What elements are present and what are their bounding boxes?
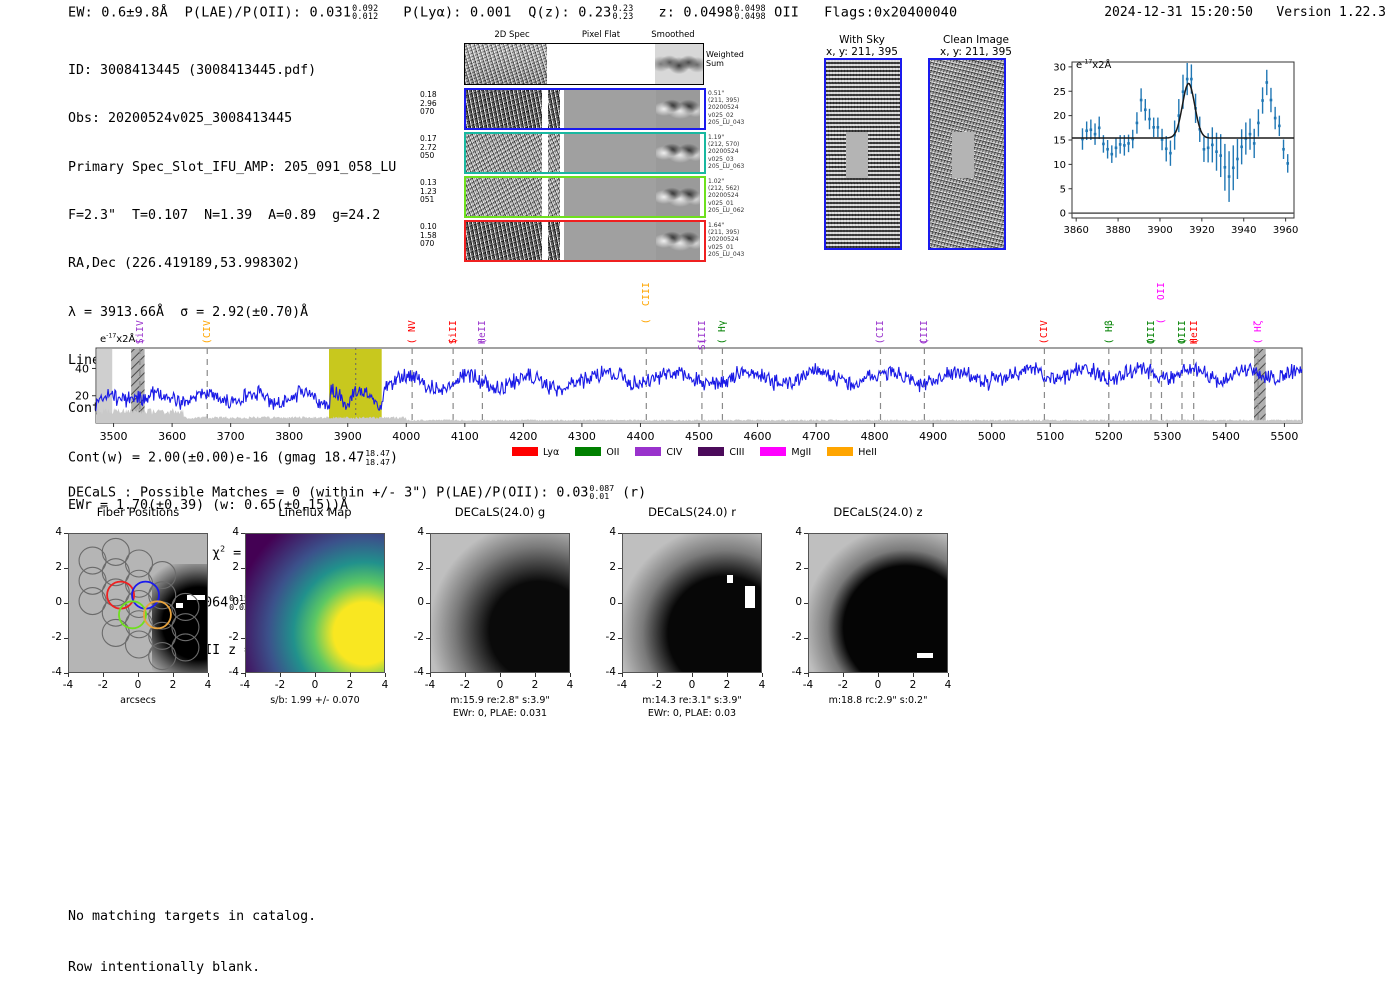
spec2d-panel-1-meta-2: 20200524 [708,148,768,155]
footer-line-2: Row intentionally blank. [68,959,316,976]
svg-text:4900: 4900 [919,430,947,443]
spectrum-line-marker-paren-16: ( [1253,338,1264,344]
header-flags: Flags:0x20400040 [824,4,957,20]
header-qz-value: 0.23 [578,4,611,20]
col-header-smoothed: Smoothed [638,30,708,40]
spec2d-panel-1-meta-4: 205_LU_063 [708,163,768,170]
svg-text:3600: 3600 [158,430,186,443]
spec2d-panel-1-stats: 0.172.72050 [420,135,460,161]
decals-panel-image-4[interactable] [808,533,948,673]
decals-caption1-2: m:15.9 re:2.8" s:3.9" [400,695,600,707]
spec2d-panel-0-meta-1: (211, 395) [708,97,768,104]
decals-ytick-4-4 [804,673,808,674]
spectrum-line-marker-paren-13: ( [1156,318,1167,324]
timestamp-version: 2024-12-31 15:20:50 Version 1.22.3 [1104,5,1386,20]
decals-xticklabel-3-2: 0 [683,679,701,691]
decals-summary-lo: 0.01 [589,492,614,500]
decals-panel-image-2[interactable] [430,533,570,673]
legend-swatch-lyα [512,447,538,456]
decals-xtick-3-2 [692,673,693,677]
legend-swatch-civ [635,447,661,456]
svg-text:4000: 4000 [392,430,420,443]
spec2d-panel-0-stats: 0.182.96070 [420,91,460,117]
svg-text:0: 0 [1060,209,1066,220]
svg-text:3940: 3940 [1231,225,1256,236]
decals-xticklabel-4-4: 4 [939,679,957,691]
spectrum-line-marker-paren-6: ( [697,338,708,344]
svg-text:30: 30 [1053,62,1066,73]
cutout-withsky-title: With Sky [812,34,912,46]
decals-yticklabel-3-0: 4 [598,526,616,538]
svg-text:3700: 3700 [217,430,245,443]
decals-yticklabel-4-0: 4 [784,526,802,538]
decals-xticklabel-0-0: -4 [59,679,77,691]
spec-ann-tail: x2Å [116,334,135,345]
decals-xtick-2-3 [535,673,536,677]
decals-summary-pre: DECaLS : Possible Matches = 0 (within +/… [68,485,588,500]
spec2d-panel-2[interactable] [464,176,706,218]
decals-yticklabel-0-2: 0 [44,596,62,608]
cutout-clean-xy: x, y: 211, 395 [918,46,1034,58]
spec2d-panel-1-stat-2: 050 [420,152,460,161]
decals-yticklabel-0-1: 2 [44,561,62,573]
info-seeing: F=2.3" T=0.107 N=1.39 A=0.89 g=24.2 [68,208,398,224]
decals-caption2-3: EWr: 0, PLAE: 0.03 [592,708,792,720]
decals-xtick-1-4 [385,673,386,677]
decals-yticklabel-2-3: -2 [406,631,424,643]
decals-ytick-1-4 [241,673,245,674]
svg-text:3920: 3920 [1189,225,1214,236]
svg-text:20: 20 [75,390,89,403]
decals-yticklabel-0-4: -4 [44,666,62,678]
spec2d-panel-3-stat-2: 070 [420,240,460,249]
weighted-sum-label: Weighted Sum [706,50,744,68]
spec2d-panel-1-meta: 1.19"(212, 570)20200524v025_03205_LU_063 [708,134,768,170]
decals-yticklabel-1-2: 0 [221,596,239,608]
svg-text:4500: 4500 [685,430,713,443]
decals-yticklabel-2-2: 0 [406,596,424,608]
header-z-value: 0.0498 [683,4,733,20]
header-summary-line: EW: 0.6±9.8Å P(LAE)/P(OII): 0.0310.0920.… [68,4,957,21]
svg-text:4300: 4300 [568,430,596,443]
legend-label-oii: OII [606,447,619,458]
decals-xticklabel-2-3: 2 [526,679,544,691]
decals-panel-title-4: DECaLS(24.0) z [784,505,972,519]
header-ew: EW: 0.6±9.8Å [68,4,168,20]
spectrum-legend: LyαOIICIVCIIIMgIIHeII [512,447,893,458]
decals-xticklabel-1-4: 4 [376,679,394,691]
spec2d-panel-0-meta-3: v025_02 [708,112,768,119]
svg-text:25: 25 [1053,87,1066,98]
spectrum-line-label-hζ-16: Hζ [1253,320,1264,332]
col-header-pixelflat: Pixel Flat [560,30,642,40]
svg-text:5300: 5300 [1153,430,1181,443]
decals-cutout-row: Fiber PositionsNE-4-2024420-2-4arcsecsLi… [0,505,1400,740]
decals-xtick-2-0 [430,673,431,677]
svg-text:3500: 3500 [100,430,128,443]
cutout-title-withsky: With Sky x, y: 211, 395 [812,34,912,58]
decals-xticklabel-3-3: 2 [718,679,736,691]
decals-yticklabel-1-1: 2 [221,561,239,573]
decals-xtick-0-4 [208,673,209,677]
spec2d-panel-2-meta-0: 1.02" [708,178,768,185]
decals-xticklabel-2-0: -4 [421,679,439,691]
spectrum-line-marker-paren-8: ( [875,338,886,344]
version-label: Version 1.22.3 [1276,5,1386,20]
svg-text:4200: 4200 [509,430,537,443]
legend-label-mgii: MgII [791,447,811,458]
decals-yticklabel-4-3: -2 [784,631,802,643]
weighted-sum-line2: Sum [706,59,744,68]
decals-xtick-2-2 [500,673,501,677]
legend-label-ciii: CIII [729,447,744,458]
svg-text:5500: 5500 [1270,430,1298,443]
decals-ytick-4-2 [804,603,808,604]
decals-ytick-2-1 [426,568,430,569]
decals-xticklabel-1-3: 2 [341,679,359,691]
decals-yticklabel-3-4: -4 [598,666,616,678]
decals-panel-image-1[interactable] [245,533,385,673]
spec2d-panel-3-meta-0: 1.64" [708,222,768,229]
decals-ytick-0-3 [64,638,68,639]
legend-swatch-oii [575,447,601,456]
svg-text:3860: 3860 [1063,225,1088,236]
spec2d-panel-1-meta-1: (212, 570) [708,141,768,148]
spec2d-panel-0[interactable] [464,88,706,130]
spec2d-panel-3-meta-3: v025_01 [708,244,768,251]
linefit-ann-tail: x2Å [1092,60,1111,71]
decals-xtick-3-1 [657,673,658,677]
decals-yticklabel-4-2: 0 [784,596,802,608]
spectrum-line-marker-paren-0: ( [135,338,146,344]
decals-xtick-3-0 [622,673,623,677]
spectrum-line-label-cii-8: CII [875,320,886,338]
decals-ytick-0-4 [64,673,68,674]
decals-xticklabel-2-1: -2 [456,679,474,691]
decals-ytick-2-2 [426,603,430,604]
svg-text:5200: 5200 [1095,430,1123,443]
decals-yticklabel-1-4: -4 [221,666,239,678]
svg-text:5100: 5100 [1036,430,1064,443]
spec2d-panel-2-meta-1: (212, 562) [708,185,768,192]
spectrum-line-marker-paren-1: ( [202,338,213,344]
spectrum-line-label-civ-1: CIV [202,320,213,338]
header-qz-lo: 0.23 [613,12,634,20]
decals-ytick-4-0 [804,533,808,534]
decals-ytick-2-0 [426,533,430,534]
decals-xticklabel-0-2: 0 [129,679,147,691]
header-plae-label: P(LAE)/P(OII): [185,4,302,20]
info-id: ID: 3008413445 (3008413445.pdf) [68,63,398,79]
footer-line-1: No matching targets in catalog. [68,908,316,925]
decals-yticklabel-1-3: -2 [221,631,239,643]
full-spectrum-plot[interactable]: 3500360037003800390040004100420043004400… [0,262,1400,477]
decals-yticklabel-2-0: 4 [406,526,424,538]
decals-yticklabel-0-0: 4 [44,526,62,538]
spectrum-line-label-hγ-7: Hγ [717,320,728,332]
decals-panel-image-0[interactable] [68,533,208,673]
decals-yticklabel-2-4: -4 [406,666,424,678]
header-z-lo: 0.0498 [734,12,765,20]
decals-panel-title-2: DECaLS(24.0) g [406,505,594,519]
decals-xtick-4-1 [843,673,844,677]
spec2d-panel-3-stats: 0.101.58070 [420,223,460,249]
spec2d-panel-2-meta-4: 205_LU_062 [708,207,768,214]
header-plae-value: 0.031 [310,4,352,20]
decals-ytick-3-1 [618,568,622,569]
legend-swatch-heii [827,447,853,456]
svg-text:5: 5 [1060,184,1066,195]
decals-panel-image-3[interactable] [622,533,762,673]
decals-caption2-2: EWr: 0, PLAE: 0.031 [400,708,600,720]
decals-yticklabel-3-3: -2 [598,631,616,643]
svg-text:3900: 3900 [334,430,362,443]
decals-ytick-4-1 [804,568,808,569]
decals-caption1-1: s/b: 1.99 +/- 0.070 [215,695,415,707]
spec2d-panel-1-meta-0: 1.19" [708,134,768,141]
spec2d-panel-3-meta-2: 20200524 [708,236,768,243]
decals-ytick-1-3 [241,638,245,639]
decals-xticklabel-1-2: 0 [306,679,324,691]
spectrum-line-label-siiii-6: SiIII [697,320,708,350]
decals-xtick-1-1 [280,673,281,677]
spec2d-panel-0-meta: 0.51"(211, 395)20200524v025_02205_LU_043 [708,90,768,126]
spectrum-line-marker-paren-11: ( [1104,338,1115,344]
legend-swatch-mgii [760,447,786,456]
cutout-withsky-image[interactable] [824,58,902,250]
decals-xtick-3-4 [762,673,763,677]
spectrum-line-marker-paren-14: ( [1177,338,1188,344]
decals-xtick-2-1 [465,673,466,677]
decals-xticklabel-3-0: -4 [613,679,631,691]
decals-yticklabel-3-2: 0 [598,596,616,608]
svg-text:15: 15 [1053,136,1066,147]
decals-ytick-0-1 [64,568,68,569]
decals-panel-title-3: DECaLS(24.0) r [598,505,786,519]
decals-yticklabel-2-1: 2 [406,561,424,573]
svg-text:5000: 5000 [978,430,1006,443]
svg-text:4800: 4800 [861,430,889,443]
spectrum-line-marker-paren-5: ( [641,318,652,324]
header-plya-label: P(Lyα): [403,4,461,20]
decals-panel-title-1: Lineflux Map [221,505,409,519]
legend-swatch-ciii [698,447,724,456]
spectrum-line-label-nv-2: NV [407,320,418,332]
decals-xticklabel-2-4: 4 [561,679,579,691]
svg-text:20: 20 [1053,111,1066,122]
spectrum-line-label-oii-13: OII [1156,282,1167,300]
decals-xticklabel-4-3: 2 [904,679,922,691]
decals-summary: DECaLS : Possible Matches = 0 (within +/… [68,484,646,501]
info-primary-spec: Primary Spec_Slot_IFU_AMP: 205_091_058_L… [68,160,398,176]
decals-xtick-1-3 [350,673,351,677]
spec2d-panel-2-stat-2: 051 [420,196,460,205]
cutout-title-cleanimage: Clean Image x, y: 211, 395 [918,34,1034,58]
spec2d-panel-0-meta-4: 205_LU_043 [708,119,768,126]
decals-xticklabel-4-1: -2 [834,679,852,691]
decals-xtick-4-4 [948,673,949,677]
decals-xticklabel-3-1: -2 [648,679,666,691]
spec2d-panel-0-stat-2: 070 [420,108,460,117]
col-header-2dspec: 2D Spec [464,30,560,40]
decals-xtick-3-3 [727,673,728,677]
decals-caption1-4: m:18.8 rc:2.9" s:0.2" [778,695,978,707]
spectrum-line-marker-paren-10: ( [1039,338,1050,344]
spectrum-line-marker-paren-15: ( [1189,338,1200,344]
svg-text:5400: 5400 [1212,430,1240,443]
decals-yticklabel-1-0: 4 [221,526,239,538]
decals-xticklabel-0-3: 2 [164,679,182,691]
decals-xtick-4-3 [913,673,914,677]
spec2d-panel-3-meta-4: 205_LU_043 [708,251,768,258]
decals-yticklabel-0-3: -2 [44,631,62,643]
decals-xtick-1-2 [315,673,316,677]
header-z-label: z: [658,4,675,20]
decals-ytick-3-0 [618,533,622,534]
spectrum-line-marker-paren-12: ( [1146,338,1157,344]
svg-text:10: 10 [1053,160,1066,171]
spectrum-line-marker-paren-3: ( [448,338,459,344]
header-z-species: OII [774,4,799,20]
spec2d-panel-3-meta: 1.64"(211, 395)20200524v025_01205_LU_043 [708,222,768,258]
decals-xtick-0-3 [173,673,174,677]
decals-yticklabel-4-1: 2 [784,561,802,573]
decals-ytick-4-3 [804,638,808,639]
decals-ytick-0-2 [64,603,68,604]
decals-xticklabel-1-0: -4 [236,679,254,691]
spectrum-line-label-civ-10: CIV [1039,320,1050,338]
spec2d-panel-3[interactable] [464,220,706,262]
spectrum-flux-annotation: e-17x2Å [100,334,135,345]
spec2d-panel-1[interactable] [464,132,706,174]
decals-xtick-1-0 [245,673,246,677]
spectrum-line-marker-paren-2: ( [407,338,418,344]
decals-panel-title-0: Fiber Positions [44,505,232,519]
decals-yticklabel-4-4: -4 [784,666,802,678]
emission-line-fit-plot[interactable]: 386038803900392039403960051015202530e-17… [1032,48,1302,248]
header-plae-lo: 0.012 [352,12,378,20]
decals-xtick-0-2 [138,673,139,677]
spectrum-line-marker-paren-9: ( [919,338,930,344]
decals-xtick-2-4 [570,673,571,677]
spectrum-line-label-ciii-5: CIII [641,282,652,306]
spectrum-line-marker-paren-4: ( [477,338,488,344]
spectrum-line-label-hβ-11: Hβ [1104,320,1115,332]
svg-text:4400: 4400 [626,430,654,443]
decals-summary-post: (r) [622,485,646,500]
svg-text:3960: 3960 [1273,225,1298,236]
decals-ytick-3-3 [618,638,622,639]
decals-caption1-3: m:14.3 re:3.1" s:3.9" [592,695,792,707]
decals-xticklabel-0-1: -2 [94,679,112,691]
svg-text:3900: 3900 [1147,225,1172,236]
cutout-clean-image[interactable] [928,58,1006,250]
svg-text:40: 40 [75,362,89,375]
decals-ytick-1-2 [241,603,245,604]
cutout-clean-title: Clean Image [918,34,1034,46]
svg-text:4700: 4700 [802,430,830,443]
spec2d-panel-1-meta-3: v025_03 [708,156,768,163]
decals-ytick-3-4 [618,673,622,674]
weighted-sum-image [464,43,704,85]
decals-xticklabel-4-2: 0 [869,679,887,691]
decals-xtick-0-0 [68,673,69,677]
legend-label-heii: HeII [858,447,877,458]
legend-label-civ: CIV [666,447,682,458]
header-plya-value: 0.001 [470,4,512,20]
decals-ytick-2-4 [426,673,430,674]
svg-text:4600: 4600 [744,430,772,443]
svg-text:4100: 4100 [451,430,479,443]
info-obs: Obs: 20200524v025_3008413445 [68,111,398,127]
spec-ann-exp: -17 [106,333,116,340]
decals-ytick-3-2 [618,603,622,604]
decals-xticklabel-0-4: 4 [199,679,217,691]
decals-ytick-2-3 [426,638,430,639]
decals-xtick-4-0 [808,673,809,677]
spec2d-panel-0-meta-0: 0.51" [708,90,768,97]
decals-xticklabel-2-2: 0 [491,679,509,691]
decals-xticklabel-1-1: -2 [271,679,289,691]
spec2d-panel-2-stats: 0.131.23051 [420,179,460,205]
spec2d-panel-2-meta-2: 20200524 [708,192,768,199]
spec2d-panel-2-meta: 1.02"(212, 562)20200524v025_01205_LU_062 [708,178,768,214]
decals-xtick-0-1 [103,673,104,677]
decals-xticklabel-4-0: -4 [799,679,817,691]
decals-xtick-4-2 [878,673,879,677]
decals-yticklabel-3-1: 2 [598,561,616,573]
legend-label-lyα: Lyα [543,447,559,458]
svg-text:3880: 3880 [1105,225,1130,236]
svg-text:3800: 3800 [275,430,303,443]
linefit-flux-annotation: e-17x2Å [1076,60,1111,71]
spec2d-panel-0-meta-2: 20200524 [708,104,768,111]
decals-ytick-0-0 [64,533,68,534]
header-qz-label: Q(z): [528,4,570,20]
linefit-ann-exp: -17 [1082,59,1092,66]
decals-ytick-1-0 [241,533,245,534]
spec2d-panel-group: 2D Spec Pixel Flat Smoothed Weighted Sum… [420,30,760,250]
footer-note: No matching targets in catalog. Row inte… [68,874,316,993]
decals-axis-label-0: arcsecs [44,695,232,707]
spec2d-panel-2-meta-3: v025_01 [708,200,768,207]
spec2d-panel-3-meta-1: (211, 395) [708,229,768,236]
decals-ytick-1-1 [241,568,245,569]
spectrum-line-marker-paren-7: ( [717,338,728,344]
timestamp: 2024-12-31 15:20:50 [1104,5,1253,20]
cutout-withsky-xy: x, y: 211, 395 [812,46,912,58]
weighted-sum-line1: Weighted [706,50,744,59]
decals-xticklabel-3-4: 4 [753,679,771,691]
